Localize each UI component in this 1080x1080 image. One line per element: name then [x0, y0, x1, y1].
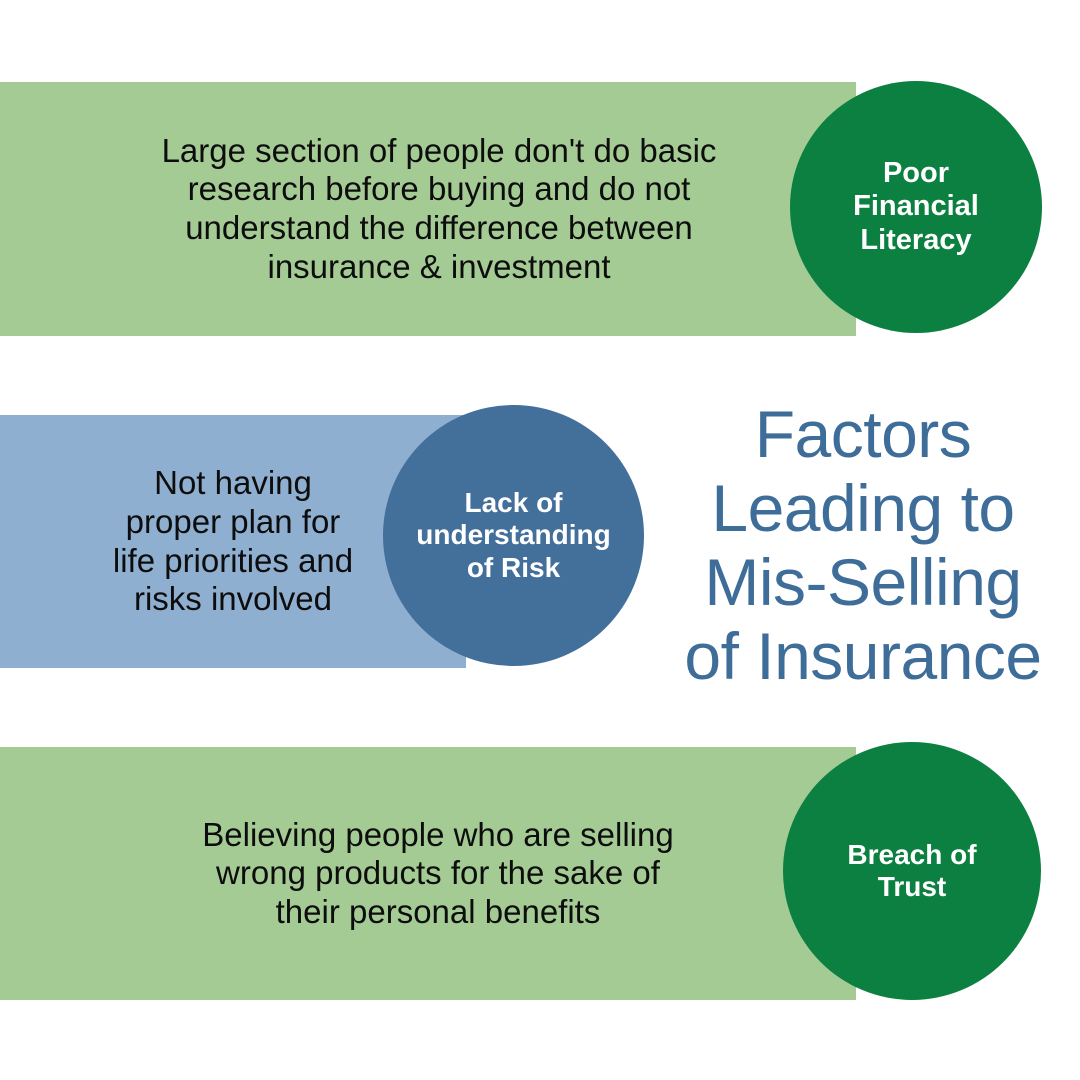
factor-description-poor-financial-literacy: Large section of people don't do basic r… [89, 132, 789, 286]
factor-badge-lack-of-understanding-of-risk: Lack of understanding of Risk [383, 405, 644, 666]
factor-badge-poor-financial-literacy: Poor Financial Literacy [790, 81, 1042, 333]
factor-description-lack-of-understanding-of-risk: Not having proper plan for life prioriti… [33, 464, 433, 618]
factor-badge-breach-of-trust: Breach of Trust [783, 742, 1041, 1000]
page-title: Factors Leading to Mis-Selling of Insura… [648, 398, 1078, 694]
infographic-canvas: Large section of people don't do basic r… [0, 0, 1080, 1080]
factor-description-breach-of-trust: Believing people who are selling wrong p… [98, 816, 778, 932]
factor-band-breach-of-trust: Believing people who are selling wrong p… [0, 747, 856, 1000]
factor-band-poor-financial-literacy: Large section of people don't do basic r… [0, 82, 856, 336]
